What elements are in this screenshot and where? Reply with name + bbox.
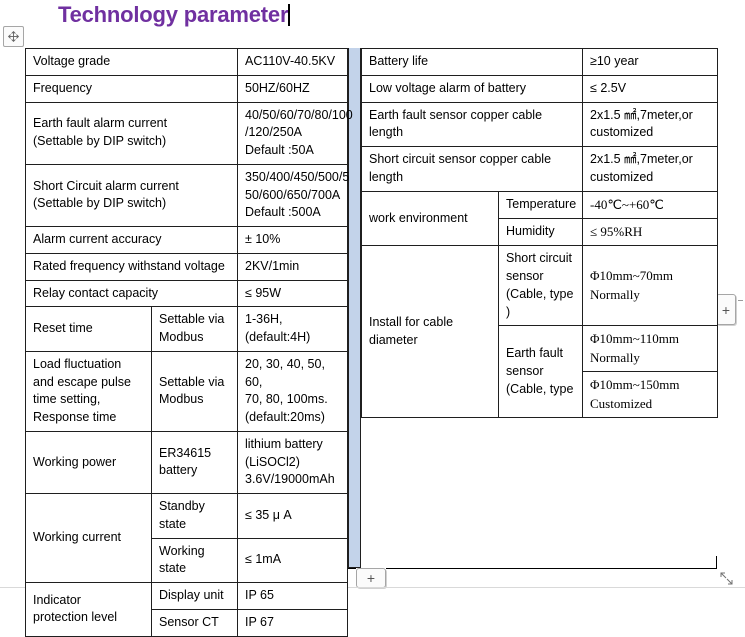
row-sublabel-line: Modbus [159, 391, 231, 409]
table-row: Alarm current accuracy ± 10% [26, 227, 348, 254]
row-value-line: 50/600/650/700A [245, 187, 341, 205]
row-label-line: Load fluctuation [33, 356, 145, 374]
row-value: lithium battery (LiSOCl2) 3.6V/19000mAh [238, 431, 348, 493]
row-sublabel-line: (Cable, type [506, 381, 576, 399]
row-label: Earth fault sensor copper cable length [362, 102, 583, 147]
row-value: ≤ 35 μ A [238, 494, 348, 539]
row-label: Working power [26, 431, 152, 493]
add-row-button[interactable]: + [356, 568, 386, 588]
row-value-line: /120/250A [245, 124, 341, 142]
row-label: Load fluctuation and escape pulse time s… [26, 351, 152, 431]
text-caret [288, 4, 290, 26]
row-sublabel-line: Short circuit [506, 250, 576, 268]
row-value-line: Φ10mm~110mm [590, 330, 711, 348]
row-value: Φ10mm~150mm Customized [583, 372, 718, 418]
row-label: Rated frequency withstand voltage [26, 253, 238, 280]
row-sublabel: Humidity [499, 218, 583, 245]
row-label: Low voltage alarm of battery [362, 75, 583, 102]
row-sublabel: Settable via Modbus [152, 351, 238, 431]
row-value: 1-36H,(default:4H) [238, 307, 348, 352]
row-label: Earth fault alarm current (Settable by D… [26, 102, 238, 164]
right-spec-table: Battery life ≥10 year Low voltage alarm … [361, 48, 718, 418]
row-label-line: (Settable by DIP switch) [33, 195, 231, 213]
row-label: Install for cable diameter [362, 246, 499, 418]
row-sublabel: Display unit [152, 583, 238, 610]
row-sublabel: Temperature [499, 191, 583, 218]
row-value: 50HZ/60HZ [238, 75, 348, 102]
table-row: Short circuit sensor copper cable length… [362, 147, 718, 192]
row-value-line: 40/50/60/70/80/100 [245, 107, 341, 125]
row-value-line: Default :500A [245, 204, 341, 222]
row-label-line: Install for cable [369, 314, 492, 332]
table-row: Load fluctuation and escape pulse time s… [26, 351, 348, 431]
row-sublabel-line: (Cable, type ) [506, 286, 576, 322]
selected-divider-column[interactable] [348, 48, 361, 568]
row-value-line: 20, 30, 40, 50, 60, [245, 356, 341, 392]
row-value-line: customized [590, 169, 711, 187]
row-value-line: Normally [590, 349, 711, 367]
row-value: 20, 30, 40, 50, 60, 70, 80, 100ms. (defa… [238, 351, 348, 431]
table-row: Install for cable diameter Short circuit… [362, 246, 718, 326]
table-row: Frequency 50HZ/60HZ [26, 75, 348, 102]
add-column-button[interactable]: + [716, 294, 736, 325]
row-sublabel-line: ER34615 [159, 445, 231, 463]
row-value: 2x1.5 ㎟,7meter,or customized [583, 102, 718, 147]
table-move-handle[interactable] [3, 26, 24, 47]
row-value: Φ10mm~110mm Normally [583, 326, 718, 372]
row-sublabel: Sensor CT [152, 609, 238, 636]
selected-divider-column-cap [348, 556, 361, 568]
row-value: 350/400/450/500/5 50/600/650/700A Defaul… [238, 164, 348, 226]
row-value: ≤ 95W [238, 280, 348, 307]
resize-guide-vertical [716, 556, 717, 568]
row-value: -40℃~+60℃ [583, 191, 718, 218]
row-label-line: and escape pulse [33, 374, 145, 392]
row-label: Short circuit sensor copper cable length [362, 147, 583, 192]
row-value-line: lithium battery [245, 436, 341, 454]
row-sublabel: ER34615 battery [152, 431, 238, 493]
table-row: Reset time Settable via Modbus 1-36H,(de… [26, 307, 348, 352]
scroll-tick [738, 300, 743, 301]
row-value-line: Customized [590, 395, 711, 413]
row-value-line: Normally [590, 286, 711, 304]
row-value-line: 350/400/450/500/5 [245, 169, 341, 187]
row-value: ≥10 year [583, 49, 718, 76]
page-title: Technology parameter [58, 2, 290, 28]
page-title-text: Technology parameter [58, 2, 288, 27]
row-label-line: Earth fault alarm current [33, 115, 231, 133]
row-value-line: 70, 80, 100ms. [245, 391, 341, 409]
row-value: 2KV/1min [238, 253, 348, 280]
row-value-line: 3.6V/19000mAh [245, 471, 341, 489]
row-value: 2x1.5 ㎟,7meter,or customized [583, 147, 718, 192]
row-value: ≤ 2.5V [583, 75, 718, 102]
left-spec-table: Voltage grade AC110V-40.5KV Frequency 50… [25, 48, 348, 637]
row-value: ≤ 95%RH [583, 218, 718, 245]
row-label-line: diameter [369, 332, 492, 350]
row-label: Working current [26, 494, 152, 583]
row-value: Φ10mm~70mm Normally [583, 246, 718, 326]
row-label: work environment [362, 191, 499, 246]
row-label: Alarm current accuracy [26, 227, 238, 254]
add-column-plus-icon: + [722, 303, 730, 317]
row-value: 40/50/60/70/80/100 /120/250A Default :50… [238, 102, 348, 164]
row-sublabel: Settable via Modbus [152, 307, 238, 352]
row-label-line: Indicator [33, 592, 145, 610]
table-row: Short Circuit alarm current (Settable by… [26, 164, 348, 226]
row-value: ≤ 1mA [238, 538, 348, 583]
row-value: AC110V-40.5KV [238, 49, 348, 76]
row-value-line: 2x1.5 ㎟,7meter,or [590, 151, 711, 169]
row-sublabel-line: sensor [506, 268, 576, 286]
row-sublabel-line: battery [159, 462, 231, 480]
row-label: Short Circuit alarm current (Settable by… [26, 164, 238, 226]
table-row: Battery life ≥10 year [362, 49, 718, 76]
row-sublabel-line: Settable via [159, 311, 231, 329]
table-row: Rated frequency withstand voltage 2KV/1m… [26, 253, 348, 280]
row-value-line: (default:20ms) [245, 409, 341, 427]
row-sublabel: Short circuit sensor (Cable, type ) [499, 246, 583, 326]
row-label-line: protection level [33, 609, 145, 627]
row-value-line: (LiSOCl2) [245, 454, 341, 472]
row-value: ± 10% [238, 227, 348, 254]
row-value-line: Φ10mm~150mm [590, 376, 711, 394]
table-row: Voltage grade AC110V-40.5KV [26, 49, 348, 76]
table-row: Low voltage alarm of battery ≤ 2.5V [362, 75, 718, 102]
row-sublabel-line: sensor [506, 363, 576, 381]
table-row: Earth fault sensor copper cable length 2… [362, 102, 718, 147]
add-row-plus-icon: + [367, 571, 375, 585]
row-sublabel-line: Modbus [159, 329, 231, 347]
row-label: Battery life [362, 49, 583, 76]
row-label: Voltage grade [26, 49, 238, 76]
row-label-line: Response time [33, 409, 145, 427]
row-value-line: 2x1.5 ㎟,7meter,or [590, 107, 711, 125]
row-label: Relay contact capacity [26, 280, 238, 307]
resize-guide-horizontal [700, 568, 717, 569]
row-label: Reset time [26, 307, 152, 352]
row-label-line: Short Circuit alarm current [33, 178, 231, 196]
row-sublabel: Standby state [152, 494, 238, 539]
table-bottom-guide [386, 568, 706, 569]
table-row: Relay contact capacity ≤ 95W [26, 280, 348, 307]
resize-diagonal-icon [718, 570, 735, 587]
row-sublabel: Working state [152, 538, 238, 583]
row-label-line: time setting, [33, 391, 145, 409]
row-value-line: Default :50A [245, 142, 341, 160]
table-row: Working power ER34615 battery lithium ba… [26, 431, 348, 493]
move-cross-icon [7, 30, 20, 43]
row-sublabel-line: Settable via [159, 374, 231, 392]
table-row: work environment Temperature -40℃~+60℃ [362, 191, 718, 218]
row-value-line: Φ10mm~70mm [590, 267, 711, 285]
row-value-line: customized [590, 124, 711, 142]
row-sublabel-line: Earth fault [506, 345, 576, 363]
row-label: Indicator protection level [26, 583, 152, 637]
table-row: Indicator protection level Display unit … [26, 583, 348, 610]
table-resize-handle[interactable] [716, 568, 737, 589]
row-value: IP 65 [238, 583, 348, 610]
row-value: IP 67 [238, 609, 348, 636]
table-row: Earth fault alarm current (Settable by D… [26, 102, 348, 164]
row-sublabel: Earth fault sensor (Cable, type [499, 326, 583, 418]
table-row: Working current Standby state ≤ 35 μ A [26, 494, 348, 539]
row-label: Frequency [26, 75, 238, 102]
row-label-line: (Settable by DIP switch) [33, 133, 231, 151]
